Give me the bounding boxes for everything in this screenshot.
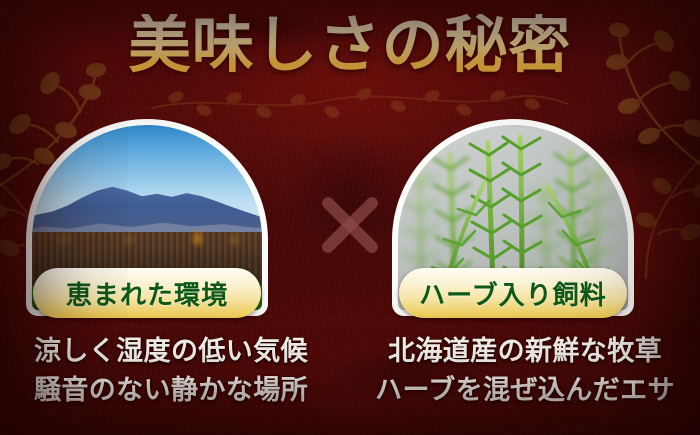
feature-column-herb-feed: ハーブ入り飼料 [398,118,628,328]
caption-herb-feed-line-2: ハーブを混ぜ込んだエサ [360,371,690,410]
leafy-vine-ornament-center [150,88,570,122]
promo-banner: 美味しさの秘密 恵まれた環境 [0,0,700,435]
badge-herb-feed: ハーブ入り飼料 [399,268,627,318]
badge-environment-label: 恵まれた環境 [66,275,228,312]
badge-herb-feed-label: ハーブ入り飼料 [419,275,607,312]
cross-x-icon [315,190,385,260]
page-title-wrap: 美味しさの秘密 [0,14,700,79]
caption-herb-feed-line-1: 北海道産の新鮮な牧草 [360,332,690,371]
page-title: 美味しさの秘密 [129,14,572,79]
caption-environment-line-2: 騒音のない静かな場所 [6,371,336,410]
feature-column-environment: 恵まれた環境 [32,118,262,328]
caption-herb-feed: 北海道産の新鮮な牧草 ハーブを混ぜ込んだエサ [360,332,690,411]
caption-environment-line-1: 涼しく湿度の低い気候 [6,332,336,371]
badge-environment: 恵まれた環境 [33,268,261,318]
caption-environment: 涼しく湿度の低い気候 騒音のない静かな場所 [6,332,336,411]
caption-area: 涼しく湿度の低い気候 騒音のない静かな場所 北海道産の新鮮な牧草 ハーブを混ぜ込… [0,332,700,424]
